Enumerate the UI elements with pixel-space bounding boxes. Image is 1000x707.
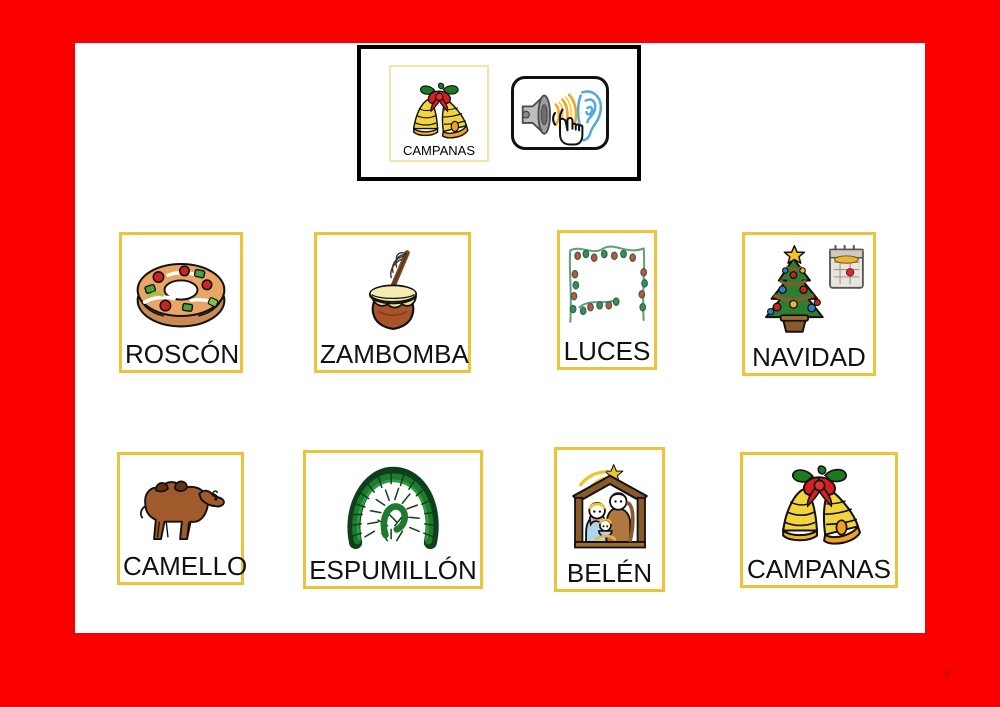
prompt-card-label: CAMPANAS	[403, 143, 475, 158]
prompt-pictogram-card[interactable]: CAMPANAS	[389, 65, 489, 162]
card-label: ESPUMILLÓN	[309, 557, 477, 584]
zambomba-drum-icon	[320, 239, 465, 341]
prompt-box: CAMPANAS	[357, 45, 641, 181]
roscon-ring-cake-icon	[125, 239, 237, 341]
christmas-tree-calendar-icon	[748, 239, 870, 344]
card-label: NAVIDAD	[748, 344, 870, 371]
card-roscon[interactable]: ROSCÓN	[119, 232, 243, 373]
card-label: ROSCÓN	[125, 341, 237, 368]
christmas-bells-icon	[402, 81, 476, 143]
card-label: BELÉN	[560, 560, 659, 587]
page-number: 9	[943, 666, 950, 680]
card-campanas[interactable]: CAMPANAS	[740, 452, 898, 588]
card-belen[interactable]: BELÉN	[554, 447, 665, 592]
string-lights-icon	[563, 237, 651, 338]
christmas-bells-icon	[746, 459, 892, 556]
card-navidad[interactable]: NAVIDAD	[742, 232, 876, 376]
card-label: ZAMBOMBA	[320, 341, 465, 368]
card-label: CAMPANAS	[746, 556, 892, 583]
slide-canvas: CAMPANAS	[75, 43, 925, 633]
card-zambomba[interactable]: ZAMBOMBA	[314, 232, 471, 373]
speaker-ear-touch-icon	[514, 79, 606, 147]
camel-icon	[123, 459, 238, 553]
card-label: CAMELLO	[123, 553, 238, 580]
card-label: LUCES	[563, 338, 651, 365]
card-luces[interactable]: LUCES	[557, 230, 657, 370]
audio-play-button[interactable]	[511, 76, 609, 150]
card-espumillon[interactable]: ESPUMILLÓN	[303, 450, 483, 589]
tinsel-garland-icon	[309, 457, 477, 557]
nativity-scene-icon	[560, 454, 659, 560]
card-camello[interactable]: CAMELLO	[117, 452, 244, 585]
